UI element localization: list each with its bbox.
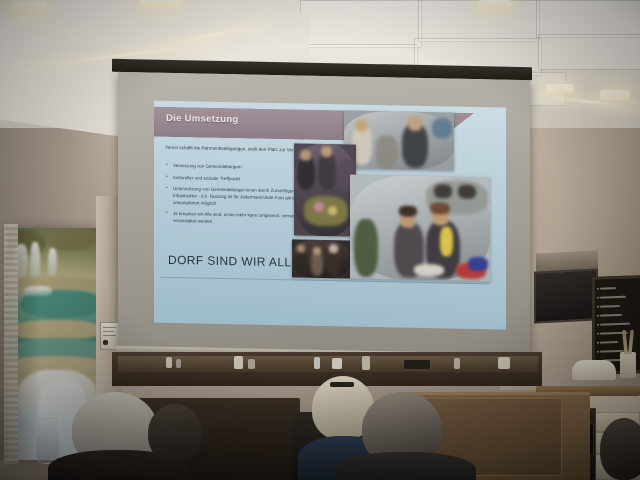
audience-head-2 xyxy=(148,404,202,462)
projection-screen: Die Umsetzung Verein schafft die Rahmenb… xyxy=(118,72,530,356)
bread-box xyxy=(572,360,616,380)
photograph-scene: Die Umsetzung Verein schafft die Rahmenb… xyxy=(0,0,640,480)
flat-screen-monitor xyxy=(534,268,598,323)
slide-headline: DORF SIND WIR ALLE! xyxy=(168,253,304,270)
carafe xyxy=(36,418,60,464)
slide-photo-group-flowers xyxy=(294,143,356,236)
slide-photo-two-women xyxy=(350,175,490,282)
hair-clip xyxy=(330,382,354,387)
window-blind xyxy=(4,224,18,464)
presentation-slide: Die Umsetzung Verein schafft die Rahmenb… xyxy=(154,101,506,330)
slide-photo-two-people xyxy=(344,110,454,170)
utensil-jar xyxy=(620,352,636,378)
audience-head-5 xyxy=(600,418,640,480)
slide-title: Die Umsetzung xyxy=(166,113,239,125)
back-shelf xyxy=(118,356,538,372)
audience-shoulder-4 xyxy=(334,452,476,480)
slide-photo-group-gathering xyxy=(292,239,350,278)
